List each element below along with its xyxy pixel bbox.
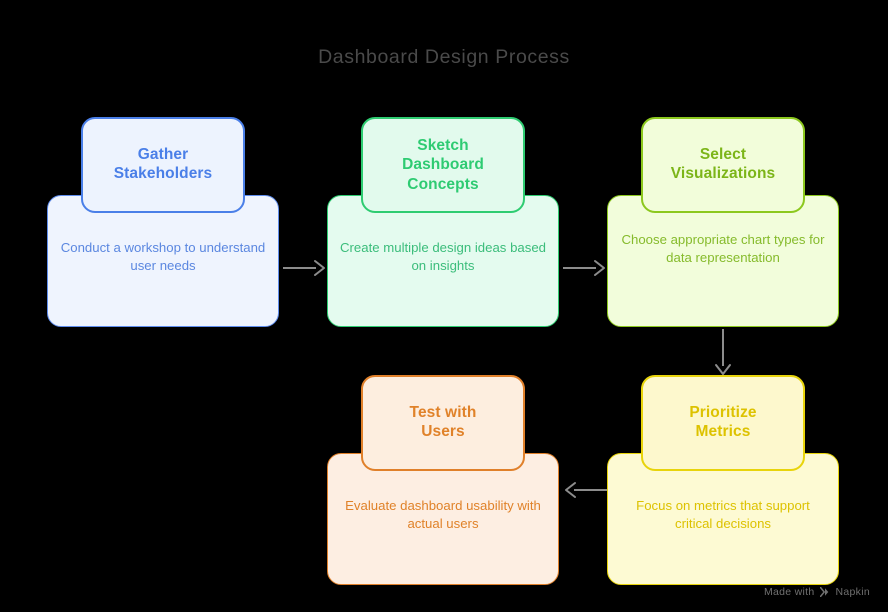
watermark-prefix: Made with xyxy=(764,586,815,598)
arrow-prioritize-to-test xyxy=(563,480,607,500)
node-title: PrioritizeMetrics xyxy=(683,404,762,442)
node-header-card: Test withUsers xyxy=(361,375,525,471)
node-description: Create multiple design ideas based on in… xyxy=(337,239,549,275)
watermark-brand: Napkin xyxy=(836,586,870,598)
node-title: SketchDashboardConcepts xyxy=(396,136,490,194)
node-header-card: SelectVisualizations xyxy=(641,117,805,213)
node-title: SelectVisualizations xyxy=(665,146,781,184)
node-header-card: SketchDashboardConcepts xyxy=(361,117,525,213)
arrow-sketch-to-select xyxy=(563,258,607,278)
diagram-canvas: Dashboard Design Process GatherStakehold… xyxy=(0,0,888,612)
page-title: Dashboard Design Process xyxy=(0,46,888,69)
node-title: Test withUsers xyxy=(404,404,483,442)
napkin-logo-icon xyxy=(820,587,831,597)
node-title: GatherStakeholders xyxy=(108,146,219,184)
node-header-card: PrioritizeMetrics xyxy=(641,375,805,471)
arrow-gather-to-sketch xyxy=(283,258,327,278)
node-description: Conduct a workshop to understand user ne… xyxy=(57,239,269,275)
node-description: Evaluate dashboard usability with actual… xyxy=(337,497,549,533)
arrow-select-to-prioritize xyxy=(713,329,733,377)
node-header-card: GatherStakeholders xyxy=(81,117,245,213)
node-description: Focus on metrics that support critical d… xyxy=(617,497,829,533)
node-description: Choose appropriate chart types for data … xyxy=(617,231,829,267)
watermark: Made with Napkin xyxy=(764,586,870,598)
